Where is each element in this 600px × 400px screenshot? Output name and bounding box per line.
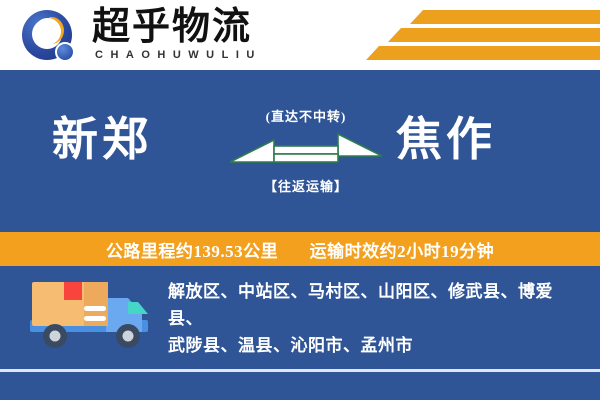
- districts-line-1: 解放区、中站区、马村区、山阳区、修武县、博爱县、: [168, 278, 578, 332]
- brand-name-cn: 超乎物流: [92, 6, 252, 48]
- origin-city: 新郑: [52, 112, 152, 168]
- coverage-section: 解放区、中站区、马村区、山阳区、修武县、博爱县、 武陟县、温县、沁阳市、孟州市: [0, 266, 600, 370]
- orange-speed-stripes-icon: [350, 6, 600, 64]
- brand-name-en: CHAOHUWULIU: [95, 49, 262, 62]
- round-trip-note: 【往返运输】: [228, 178, 384, 196]
- direct-route-note: (直达不中转): [228, 108, 384, 126]
- districts-line-2: 武陟县、温县、沁阳市、孟州市: [168, 332, 578, 359]
- logistics-route-banner: 超乎物流 CHAOHUWULIU 新郑 (直达不中转) 【往返运输】 焦作: [0, 0, 600, 400]
- destination-city: 焦作: [396, 112, 496, 168]
- info-bar-text: 公路里程约139.53公里 运输时效约2小时19分钟: [106, 237, 494, 262]
- route-info-bar: 公路里程约139.53公里 运输时效约2小时19分钟: [0, 232, 600, 266]
- header-bar: 超乎物流 CHAOHUWULIU: [0, 0, 600, 70]
- duration-text: 运输时效约2小时19分钟: [310, 242, 495, 261]
- logo-accent-dot: [55, 42, 75, 62]
- footer-bar: [0, 372, 600, 400]
- stripe-1: [410, 10, 600, 24]
- bidirectional-arrow-icon: [228, 132, 384, 172]
- distance-text: 公路里程约139.53公里: [106, 242, 278, 261]
- circle-crescent-logo-icon: [22, 10, 80, 62]
- route-middle-group: (直达不中转) 【往返运输】: [228, 108, 384, 220]
- stripe-3: [366, 46, 600, 60]
- delivery-truck-icon: [28, 276, 156, 358]
- logo-crescent-cut: [34, 18, 61, 45]
- route-section: 新郑 (直达不中转) 【往返运输】 焦作: [0, 70, 600, 232]
- stripe-2: [388, 28, 600, 42]
- covered-districts: 解放区、中站区、马村区、山阳区、修武县、博爱县、 武陟县、温县、沁阳市、孟州市: [168, 278, 578, 359]
